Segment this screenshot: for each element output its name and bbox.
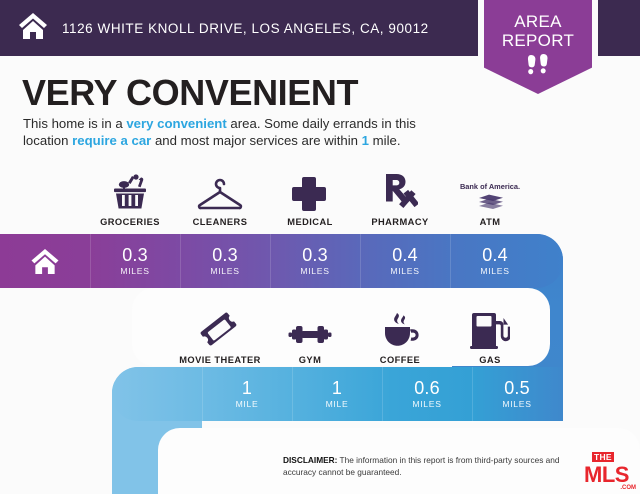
distance-cell-pharmacy: 0.4 MILES [360, 234, 450, 288]
category-atm: Bank of America. ATM [445, 172, 535, 227]
distance-value: 0.4 [482, 246, 508, 265]
property-address: 1126 WHITE KNOLL DRIVE, LOS ANGELES, CA,… [62, 21, 429, 36]
summary-text-3: and most major services are within [151, 133, 361, 148]
medical-cross-icon [292, 172, 328, 212]
row1-icon-strip: GROCERIES CLEANERS MEDICAL [85, 172, 535, 227]
distance-cell-groceries: 0.3 MILES [90, 234, 180, 288]
svg-text:Bank of America.: Bank of America. [460, 182, 520, 191]
rx-icon [382, 172, 418, 212]
mls-logo-the: THE [592, 452, 614, 462]
distance-cell-cleaners: 0.3 MILES [180, 234, 270, 288]
summary-description: This home is in a very convenient area. … [23, 115, 463, 149]
coffee-cup-icon [380, 310, 420, 350]
distance-value: 0.6 [414, 379, 440, 398]
home-marker-icon [0, 234, 90, 288]
distance-value: 0.5 [504, 379, 530, 398]
summary-text-4: mile. [369, 133, 401, 148]
home-icon [18, 12, 48, 45]
badge-line-1: AREA [484, 12, 592, 31]
distance-unit: MILE [326, 399, 349, 409]
disclaimer-text: DISCLAIMER: The information in this repo… [283, 455, 583, 478]
area-report-page: 1126 WHITE KNOLL DRIVE, LOS ANGELES, CA,… [0, 0, 640, 494]
badge-gap-left [478, 0, 484, 56]
distance-value: 0.3 [212, 246, 238, 265]
grocery-basket-icon [110, 172, 150, 212]
category-gas: GAS [445, 310, 535, 365]
distance-bar-row2: 1 MILE 1 MILE 0.6 MILES 0.5 MILES [112, 367, 563, 421]
distance-unit: MILES [210, 266, 239, 276]
category-label: COFFEE [380, 355, 420, 365]
footprints-icon [484, 53, 592, 84]
distance-value: 1 [242, 379, 252, 398]
row2-icon-strip: MOVIE THEATER GYM [175, 310, 535, 365]
category-gym: GYM [265, 310, 355, 365]
category-label: PHARMACY [371, 217, 428, 227]
category-label: MOVIE THEATER [179, 355, 261, 365]
distance-cell-movie-theater: 1 MILE [202, 367, 292, 421]
category-label: GYM [299, 355, 322, 365]
disclaimer-label: DISCLAIMER: [283, 455, 337, 465]
distance-cell-medical: 0.3 MILES [270, 234, 360, 288]
distance-value: 0.4 [392, 246, 418, 265]
page-title: VERY CONVENIENT [22, 72, 358, 114]
summary-highlight-1: very convenient [126, 116, 226, 131]
dumbbell-icon [288, 310, 332, 350]
category-label: CLEANERS [193, 217, 248, 227]
distance-unit: MILES [502, 399, 531, 409]
summary-text-1: This home is in a [23, 116, 126, 131]
category-label: ATM [480, 217, 501, 227]
category-label: GROCERIES [100, 217, 160, 227]
category-movie-theater: MOVIE THEATER [175, 310, 265, 365]
badge-line-2: REPORT [484, 31, 592, 50]
movie-ticket-icon [200, 310, 240, 350]
category-label: GAS [479, 355, 501, 365]
distance-unit: MILES [120, 266, 149, 276]
mls-logo: THE MLS .COM [584, 447, 636, 487]
bank-of-america-icon: Bank of America. [459, 172, 521, 212]
summary-highlight-3: 1 [362, 133, 369, 148]
summary-highlight-2: require a car [72, 133, 151, 148]
category-medical: MEDICAL [265, 172, 355, 227]
distance-cell-gas: 0.5 MILES [472, 367, 562, 421]
hanger-icon [196, 172, 244, 212]
category-pharmacy: PHARMACY [355, 172, 445, 227]
category-cleaners: CLEANERS [175, 172, 265, 227]
distance-unit: MILES [390, 266, 419, 276]
distance-value: 0.3 [302, 246, 328, 265]
mls-logo-main: MLS [584, 465, 636, 485]
distance-value: 0.3 [122, 246, 148, 265]
category-label: MEDICAL [287, 217, 333, 227]
distance-value: 1 [332, 379, 342, 398]
distance-unit: MILES [412, 399, 441, 409]
distance-cell-atm: 0.4 MILES [450, 234, 540, 288]
distance-unit: MILES [480, 266, 509, 276]
area-report-badge: AREA REPORT [484, 0, 592, 94]
gas-pump-icon [470, 310, 510, 350]
badge-gap-right [592, 0, 598, 56]
distance-unit: MILE [236, 399, 259, 409]
distance-cell-gym: 1 MILE [292, 367, 382, 421]
category-groceries: GROCERIES [85, 172, 175, 227]
distance-bar-row1: 0.3 MILES 0.3 MILES 0.3 MILES 0.4 MILES … [0, 234, 563, 288]
category-coffee: COFFEE [355, 310, 445, 365]
distance-unit: MILES [300, 266, 329, 276]
distance-cell-coffee: 0.6 MILES [382, 367, 472, 421]
